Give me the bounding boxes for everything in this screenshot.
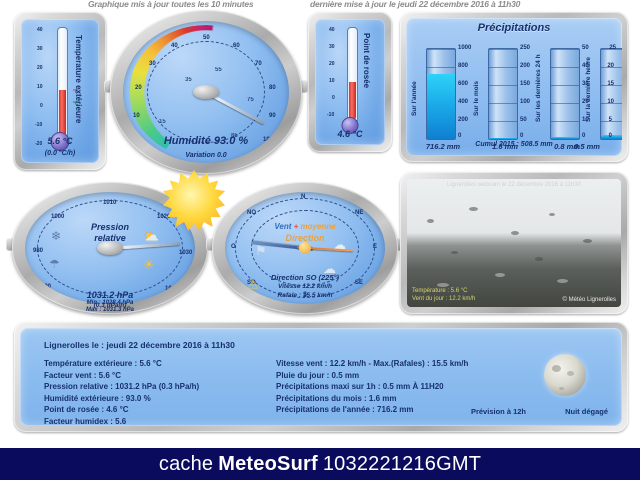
humi-scale-70: 70 bbox=[255, 61, 262, 67]
dew-tick-10: 10 bbox=[329, 78, 335, 84]
precip-bar-label-2: Sur les dernières 24 h bbox=[535, 54, 542, 122]
summary-left-column: Température extérieure : 5.6 °C Facteur … bbox=[44, 358, 199, 426]
precip-bar-0 bbox=[426, 48, 456, 140]
summary-line-rain-year: Précipitations de l'année : 716.2 mm bbox=[276, 404, 468, 416]
summary-panel: Lignerolles le : jeudi 22 décembre 2016 … bbox=[14, 322, 628, 432]
precip-bar-3 bbox=[600, 48, 622, 140]
thermo-tick-m10: -10 bbox=[35, 122, 42, 128]
precip-scale-0-a: 1000 bbox=[458, 45, 471, 51]
humidity-value-label: Humidité 93.0 % bbox=[123, 135, 289, 147]
wind-gust-readout: Rafale : 15.5 km/h bbox=[225, 292, 385, 299]
precip-scale-1-c: 150 bbox=[520, 81, 530, 87]
humidity-gauge-hub bbox=[193, 85, 219, 99]
webcam-image[interactable]: Lignerolles webcam le 22 décembre 2016 à… bbox=[407, 179, 621, 307]
summary-heading: Lignerolles le : jeudi 22 décembre 2016 … bbox=[44, 340, 235, 350]
thermo-tick-0: 0 bbox=[40, 103, 43, 109]
compass-n: N bbox=[301, 194, 305, 200]
humi-scale-40: 40 bbox=[171, 43, 178, 49]
compass-o: O bbox=[231, 244, 236, 250]
press-scale-1000: 1000 bbox=[51, 214, 64, 220]
summary-line-rain-max-1h: Précipitations maxi sur 1h : 0.5 mm À 11… bbox=[276, 381, 468, 393]
webcam-overlay-values: Température : 5.6 °C Vent du jour : 12.2… bbox=[412, 287, 475, 303]
summary-right-column: Vitesse vent : 12.2 km/h - Max.(Rafales)… bbox=[276, 358, 468, 416]
sun-icon: ☀ bbox=[143, 258, 155, 271]
humi-inner-15: 15 bbox=[159, 119, 166, 125]
humi-inner-75: 75 bbox=[247, 97, 254, 103]
precip-scale-3-c: 15 bbox=[607, 81, 614, 87]
rain-icon: ☂ bbox=[49, 258, 60, 270]
dewpoint-value: 4.6 °C bbox=[315, 129, 385, 139]
dewpoint-tube bbox=[347, 27, 358, 121]
compass-e: E bbox=[373, 244, 377, 250]
precip-fill-0 bbox=[427, 74, 455, 139]
forecast-label: Prévision à 12h bbox=[471, 407, 526, 416]
unit-fahrenheit-label: °F bbox=[73, 89, 78, 95]
precip-scale-0-c: 600 bbox=[458, 81, 468, 87]
precip-scale-3-e: 5 bbox=[609, 117, 612, 123]
moon-icon bbox=[544, 354, 586, 396]
precip-bar-2 bbox=[550, 48, 580, 140]
precip-scale-0-e: 200 bbox=[458, 117, 468, 123]
summary-line-dewpoint: Point de rosée : 4.6 °C bbox=[44, 404, 199, 416]
outdoor-thermometer-face: Température extérieure 40 30 20 10 0 -10… bbox=[21, 19, 99, 163]
moon-phase-label: Nuit dégagé bbox=[565, 407, 608, 416]
wind-title-vent: Vent bbox=[274, 222, 291, 231]
humi-inner-35: 35 bbox=[185, 77, 192, 83]
status-cache-label: cache bbox=[159, 453, 213, 476]
precip-scale-2-a: 50 bbox=[582, 45, 589, 51]
outdoor-thermometer-panel: Température extérieure 40 30 20 10 0 -10… bbox=[14, 12, 106, 170]
humi-scale-60: 60 bbox=[233, 43, 240, 49]
summary-line-rain-month: Précipitations du mois : 1.6 mm bbox=[276, 393, 468, 405]
weather-dashboard: Graphique mis à jour toutes les 10 minut… bbox=[0, 0, 640, 480]
press-scale-1010: 1010 bbox=[103, 200, 116, 206]
precip-scale-1-e: 50 bbox=[520, 117, 527, 123]
precip-fill-1 bbox=[489, 138, 517, 139]
humidity-variation-label: Variation 0.0 bbox=[123, 152, 289, 159]
summary-line-temp: Température extérieure : 5.6 °C bbox=[44, 358, 199, 370]
dewpoint-mercury bbox=[349, 82, 356, 120]
humi-scale-50: 50 bbox=[203, 35, 210, 41]
precipitation-panel: Précipitations Sur l'année 1000 800 600 … bbox=[400, 12, 628, 162]
precip-bar-label-1: Sur le mois bbox=[473, 81, 480, 116]
precip-scale-0-d: 400 bbox=[458, 99, 468, 105]
caption-left: Graphique mis à jour toutes les 10 minut… bbox=[88, 0, 253, 9]
humi-scale-90: 90 bbox=[269, 113, 276, 119]
pressure-max: Max : 1031.3 hPa bbox=[12, 307, 208, 313]
outdoor-temp-value: 5.6 °C bbox=[21, 136, 99, 146]
dewpoint-thermometer-panel: Point de rosée 40 30 20 10 0 -10 4.6 °C bbox=[308, 12, 392, 152]
humidity-gauge-face: 0 10 20 30 40 50 60 70 80 90 100 15 35 5… bbox=[123, 21, 289, 163]
thermometer-mercury bbox=[59, 90, 66, 136]
webcam-panel[interactable]: Lignerolles webcam le 22 décembre 2016 à… bbox=[400, 172, 628, 314]
wind-flag-icon: ⚑ bbox=[255, 244, 267, 257]
precipitation-cumul-note: Cumul 2015 : 508.5 mm bbox=[406, 141, 622, 148]
dewpoint-thermometer-title: Point de rosée bbox=[362, 33, 371, 88]
dew-tick-30: 30 bbox=[329, 44, 335, 50]
humi-scale-80: 80 bbox=[269, 85, 276, 91]
dewpoint-thermometer-face: Point de rosée 40 30 20 10 0 -10 4.6 °C bbox=[315, 19, 385, 145]
humi-scale-10: 10 bbox=[133, 113, 140, 119]
precip-scale-3-d: 10 bbox=[607, 99, 614, 105]
press-scale-980: 980 bbox=[33, 248, 43, 254]
outdoor-thermometer-title: Température extérieure bbox=[74, 35, 83, 123]
webcam-wind-overlay: Vent du jour : 12.2 km/h bbox=[412, 295, 475, 303]
wind-title-row: Vent + moyenne bbox=[225, 222, 385, 231]
summary-line-rain-day: Pluie du jour : 0.5 mm bbox=[276, 370, 468, 382]
press-scale-1030: 1030 bbox=[179, 250, 192, 256]
wind-speed-readout: Vitesse 12.2 km/h bbox=[225, 283, 385, 290]
compass-no: NO bbox=[247, 210, 256, 216]
precip-scale-0-f: 0 bbox=[458, 133, 461, 139]
thermo-tick-10: 10 bbox=[37, 84, 43, 90]
thermo-tick-20: 20 bbox=[37, 65, 43, 71]
precip-scale-1-a: 250 bbox=[520, 45, 530, 51]
wind-gauge-face: N NE E SE S SO O NO Vent + moyenne Direc… bbox=[225, 192, 385, 304]
status-app-name: MeteoSurf bbox=[218, 453, 318, 476]
pressure-min: Min : 1028.4 hPa bbox=[12, 300, 208, 306]
status-bar: cache MeteoSurf 1032221216GMT bbox=[0, 448, 640, 480]
dew-tick-0: 0 bbox=[332, 95, 335, 101]
summary-line-pressure: Pression relative : 1031.2 hPa (0.3 hPa/… bbox=[44, 381, 199, 393]
outdoor-temp-trend: (0.0 °C/h) bbox=[21, 150, 99, 157]
precip-scale-0-b: 800 bbox=[458, 63, 468, 69]
wind-gauge-hub bbox=[299, 242, 311, 254]
thermometer-tube bbox=[57, 27, 68, 137]
status-timestamp: 1032221216GMT bbox=[323, 453, 481, 476]
summary-line-humidity: Humidité extérieure : 93.0 % bbox=[44, 393, 199, 405]
precip-scale-1-b: 200 bbox=[520, 63, 530, 69]
summary-line-windchill: Facteur vent : 5.6 °C bbox=[44, 370, 199, 382]
dew-tick-20: 20 bbox=[329, 61, 335, 67]
pressure-title: Pression bbox=[25, 222, 195, 232]
webcam-caption: Lignerolles webcam le 22 décembre 2016 à… bbox=[407, 182, 621, 188]
wind-direction-readout: Direction SO (225°) bbox=[225, 273, 385, 282]
dew-tick-40: 40 bbox=[329, 27, 335, 33]
precip-scale-1-d: 100 bbox=[520, 99, 530, 105]
webcam-credit: © Météo Lignerolles bbox=[563, 297, 616, 303]
precip-scale-2-f: 0 bbox=[582, 133, 585, 139]
webcam-temp-overlay: Température : 5.6 °C bbox=[412, 287, 475, 295]
precip-scale-3-a: 25 bbox=[609, 45, 616, 51]
summary-line-windspeed: Vitesse vent : 12.2 km/h - Max.(Rafales)… bbox=[276, 358, 468, 370]
wind-title-moyenne: moyenne bbox=[301, 222, 336, 231]
wind-gauge: N NE E SE S SO O NO Vent + moyenne Direc… bbox=[212, 182, 398, 314]
compass-ne: NE bbox=[355, 210, 363, 216]
unit-celsius-label: °C bbox=[73, 101, 79, 107]
humi-scale-20: 20 bbox=[135, 85, 142, 91]
summary-line-humidex: Facteur humidex : 5.6 bbox=[44, 416, 199, 427]
precip-bar-1 bbox=[488, 48, 518, 140]
precipitation-title: Précipitations bbox=[406, 22, 622, 34]
humidity-gauge: 0 10 20 30 40 50 60 70 80 90 100 15 35 5… bbox=[110, 10, 302, 174]
summary-face: Lignerolles le : jeudi 22 décembre 2016 … bbox=[20, 328, 622, 426]
thermo-tick-30: 30 bbox=[37, 46, 43, 52]
precip-scale-1-f: 0 bbox=[520, 133, 523, 139]
thermo-tick-40: 40 bbox=[37, 27, 43, 33]
precip-scale-3-f: 0 bbox=[609, 133, 612, 139]
precip-fill-2 bbox=[551, 137, 579, 139]
caption-row: Graphique mis à jour toutes les 10 minut… bbox=[0, 0, 640, 12]
pressure-gauge-hub bbox=[97, 241, 123, 255]
caption-right: dernière mise à jour le jeudi 22 décembr… bbox=[310, 0, 520, 9]
pressure-value: 1031.2 hPa bbox=[12, 290, 208, 300]
pressure-gauge-face: 980 990 1000 1010 1020 1030 1040 ❄ ☂ ⛅ ☀… bbox=[25, 192, 195, 304]
dew-tick-m10: -10 bbox=[327, 112, 334, 118]
humi-scale-30: 30 bbox=[149, 61, 156, 67]
precip-bar-label-0: Sur l'année bbox=[411, 81, 418, 116]
precipitation-face: Précipitations Sur l'année 1000 800 600 … bbox=[406, 18, 622, 156]
humi-inner-55: 55 bbox=[215, 67, 222, 73]
precip-bar-label-3: Sur la dernière heure bbox=[585, 57, 592, 122]
wind-title-plus: + bbox=[294, 222, 299, 231]
precip-scale-3-b: 20 bbox=[607, 63, 614, 69]
